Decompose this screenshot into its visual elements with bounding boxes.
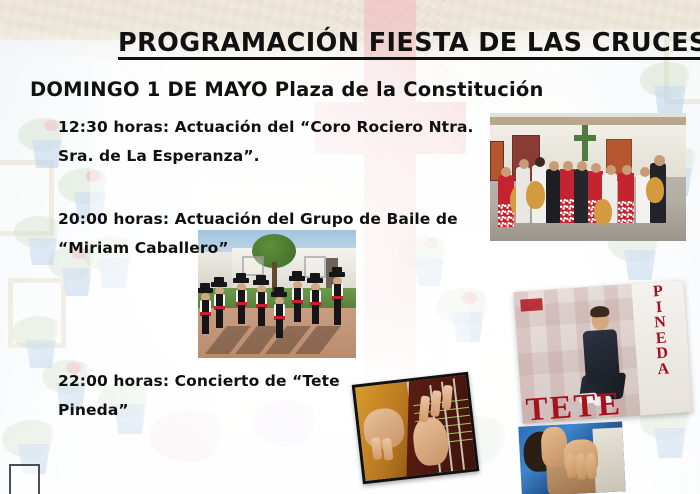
festival-poster: PINEDA TETE iequas PROGRAMACIÓN FIESTA D… [0,0,700,494]
schedule-entry-2: 20:00 horas: Actuación del Grupo de Bail… [58,205,478,263]
schedule-entry-3: 22:00 horas: Concierto de “Tete Pineda” [58,367,358,425]
schedule-entry-1: 12:30 horas: Actuación del “Coro Rociero… [58,113,488,171]
coro-rociero-photo [490,113,686,241]
page-title: PROGRAMACIÓN FIESTA DE LAS CRUCES [118,28,598,58]
tete-pineda-album-photo: PINEDA TETE iequas [514,280,693,424]
event-date-location: DOMINGO 1 DE MAYO Plaza de la Constituci… [30,78,544,101]
guitar-hands-photo [352,372,480,485]
flamenco-percussion-photo [518,421,626,494]
album-artist-surname: PINEDA [631,282,692,415]
record-label-logo [520,298,543,312]
wall-picture-frame [9,464,40,494]
